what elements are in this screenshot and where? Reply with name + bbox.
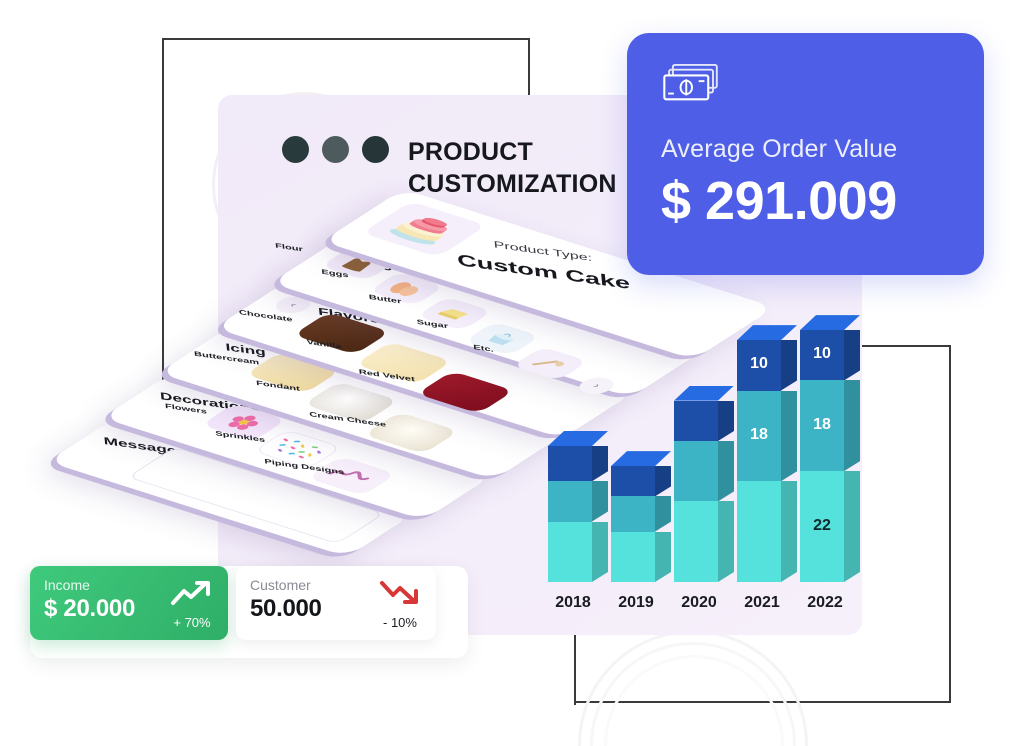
customer-value: 50.000	[250, 595, 322, 623]
bar-segment-side	[592, 481, 608, 521]
window-dot-1[interactable]	[282, 136, 309, 163]
window-dot-3[interactable]	[362, 136, 389, 163]
bar-value-label-2021-middle: 18	[737, 426, 781, 444]
chip-cake[interactable]	[362, 201, 487, 257]
kpi-card-average-order-value[interactable]: Average Order Value $ 291.009	[627, 33, 984, 275]
page-title-line-1: PRODUCT	[408, 136, 638, 168]
bar-segment-2021-middle: 18	[737, 391, 781, 482]
x-axis-label-2022: 2022	[794, 594, 856, 612]
bar-segment-side	[781, 481, 797, 582]
kpi-card-income[interactable]: Income $ 20.000 + 70%	[30, 566, 228, 640]
bar-segment-2018-top	[548, 446, 592, 481]
bar-segment-2021-top: 10	[737, 340, 781, 390]
customer-delta: - 10%	[378, 615, 422, 630]
bar-segment-face	[674, 441, 718, 501]
bar-segment-side	[844, 330, 860, 380]
bar-segment-2021-bottom	[737, 481, 781, 582]
window-dots	[282, 136, 389, 163]
bar-segment-side	[655, 496, 671, 531]
customer-label: Customer	[250, 577, 322, 593]
bar-segment-2018-bottom	[548, 522, 592, 582]
bar-segment-side	[781, 391, 797, 482]
x-axis-label-2019: 2019	[605, 594, 667, 612]
bar-segment-side	[781, 340, 797, 390]
chip-flour-label: Flour	[275, 242, 303, 253]
bar-segment-2022-bottom: 22	[800, 471, 844, 582]
x-axis-label-2020: 2020	[668, 594, 730, 612]
bar-segment-side	[592, 446, 608, 481]
x-axis-label-2018: 2018	[542, 594, 604, 612]
customer-trend-block: - 10%	[378, 577, 422, 630]
bar-segment-2019-top	[611, 466, 655, 496]
page-title-line-2: CUSTOMIZATION	[408, 168, 638, 200]
window-dot-2[interactable]	[322, 136, 349, 163]
trend-up-icon	[170, 579, 214, 607]
bar-segment-side	[655, 466, 671, 496]
money-stack-icon	[661, 63, 723, 105]
bar-value-label-2022-middle: 18	[800, 416, 844, 434]
bar-segment-2020-bottom	[674, 501, 718, 582]
bar-value-label-2022-top: 10	[800, 345, 844, 363]
decor-frame-bottom-right-right-edge	[949, 345, 951, 703]
bar-segment-face	[548, 522, 592, 582]
trend-down-icon	[378, 579, 422, 607]
bar-top-cap-2020	[674, 386, 734, 401]
cake-icon	[379, 209, 470, 250]
product-type-value: Custom Cake	[456, 251, 631, 294]
bar-segment-side	[718, 401, 734, 441]
kpi-label: Average Order Value	[661, 135, 950, 164]
bar-segment-face	[611, 466, 655, 496]
bar-segment-face	[611, 532, 655, 582]
bar-value-label-2021-top: 10	[737, 355, 781, 373]
bar-segment-face	[611, 496, 655, 531]
bar-top-cap-2019	[611, 451, 671, 466]
income-value: $ 20.000	[44, 595, 135, 623]
bar-segment-side	[844, 380, 860, 471]
bar-segment-side	[844, 471, 860, 582]
bar-top-cap-2022	[800, 315, 860, 330]
bar-segment-side	[592, 522, 608, 582]
infographic-canvas: PRODUCT CUSTOMIZATION Message Decoration…	[0, 0, 1024, 746]
sales-bar-chart: 201820192020181020212218102022	[540, 288, 870, 618]
income-delta: + 70%	[170, 615, 214, 630]
bar-segment-side	[718, 501, 734, 582]
bar-segment-side	[718, 441, 734, 501]
income-label: Income	[44, 577, 135, 593]
kpi-card-customer[interactable]: Customer 50.000 - 10%	[236, 566, 436, 640]
bar-top-cap-2021	[737, 325, 797, 340]
bar-segment-2018-middle	[548, 481, 592, 521]
bar-segment-face	[548, 446, 592, 481]
x-axis-label-2021: 2021	[731, 594, 793, 612]
bar-segment-2020-top	[674, 401, 718, 441]
bar-segment-face	[674, 501, 718, 582]
bar-segment-2019-bottom	[611, 532, 655, 582]
bar-segment-2022-middle: 18	[800, 380, 844, 471]
bar-segment-2019-middle	[611, 496, 655, 531]
income-trend-block: + 70%	[170, 577, 214, 630]
bar-segment-face	[674, 401, 718, 441]
customer-text-block: Customer 50.000	[250, 577, 322, 623]
bar-segment-face	[548, 481, 592, 521]
kpi-value: $ 291.009	[661, 170, 950, 232]
bar-segment-face	[737, 481, 781, 582]
bar-segment-2022-top: 10	[800, 330, 844, 380]
bar-top-cap-2018	[548, 431, 608, 446]
bar-segment-2020-middle	[674, 441, 718, 501]
flower-icon	[220, 411, 268, 433]
page-title: PRODUCT CUSTOMIZATION	[408, 136, 638, 200]
income-text-block: Income $ 20.000	[44, 577, 135, 623]
bar-segment-side	[655, 532, 671, 582]
bar-value-label-2022-bottom: 22	[800, 517, 844, 535]
